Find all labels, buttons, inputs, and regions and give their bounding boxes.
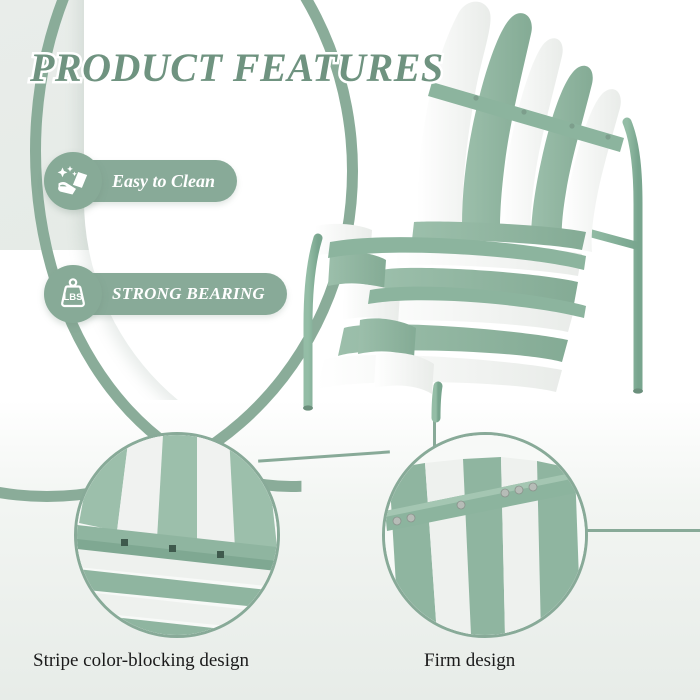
detail-circle-firm — [382, 432, 588, 638]
detail-caption-firm: Firm design — [424, 650, 515, 672]
infographic-canvas: PRODUCT FEATURES — [0, 0, 700, 700]
detail-ring-left — [74, 432, 280, 638]
chair-backrest-slats — [417, 2, 621, 252]
cleaning-hand-sparkle-icon — [44, 152, 102, 210]
weight-lbs-icon: LBS — [44, 265, 102, 323]
detail-circle-stripe — [74, 432, 280, 638]
detail-ring-right — [382, 432, 588, 638]
detail-connector-right — [572, 529, 700, 532]
page-title: PRODUCT FEATURES — [30, 44, 444, 91]
weight-icon-label: LBS — [64, 292, 83, 303]
chair-foot-caps — [303, 388, 643, 410]
detail-caption-stripe: Stripe color-blocking design — [33, 650, 249, 672]
feature-easy-to-clean[interactable]: Easy to Clean — [44, 152, 237, 210]
feature-strong-bearing[interactable]: LBS STRONG BEARING — [44, 265, 287, 323]
